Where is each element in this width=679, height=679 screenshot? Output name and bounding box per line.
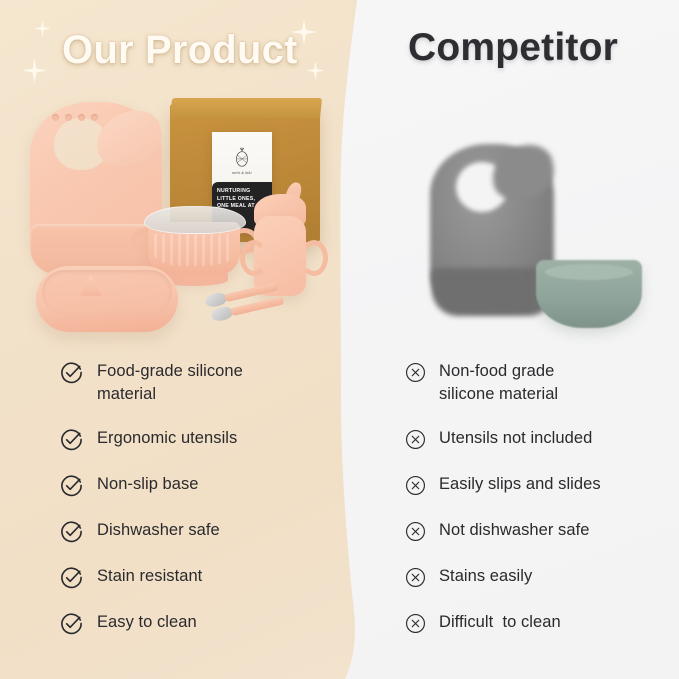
check-circle-icon [60,520,83,543]
gift-box-lid [170,98,322,118]
feature-row: Non-food grade silicone material [405,360,558,406]
bowl-clear-lid [144,206,246,234]
feature-label: Stains easily [439,565,532,588]
feature-label: Non-food grade silicone material [439,360,558,406]
comparison-infographic: Our Product Competitor mini & kiki NURTU… [0,0,679,679]
feature-label: Difficult to clean [439,611,561,634]
feature-row: Ergonomic utensils [60,427,237,451]
competitor-photo [396,92,658,340]
feature-label: Ergonomic utensils [97,427,237,450]
brand-logo: mini & kiki [220,142,264,180]
feature-row: Difficult to clean [405,611,561,634]
check-circle-icon [60,612,83,635]
feature-label: Non-slip base [97,473,199,496]
x-circle-icon [405,567,426,588]
x-circle-icon [405,475,426,496]
feature-label: Dishwasher safe [97,519,220,542]
check-circle-icon [60,361,83,384]
x-circle-icon [405,567,426,588]
feature-row: Stains easily [405,565,532,588]
x-circle-icon [405,521,426,542]
check-circle-icon [60,428,83,451]
feature-label: Easy to clean [97,611,197,634]
feature-row: Easily slips and slides [405,473,601,496]
competitor-bowl [536,260,642,328]
feature-label: Easily slips and slides [439,473,601,496]
check-circle-icon [60,474,83,497]
x-circle-icon [405,613,426,634]
x-circle-icon [405,475,426,496]
feature-label: Food-grade silicone material [97,360,243,406]
feature-label: Utensils not included [439,427,592,450]
competitor-title: Competitor [408,26,618,70]
plate-inner-well [42,270,172,314]
x-circle-icon [405,521,426,542]
our-product-photo: mini & kiki NURTURING LITTLE ONES, ONE M… [18,88,328,340]
feature-row: Not dishwasher safe [405,519,589,542]
feature-row: Stain resistant [60,565,202,589]
feature-row: Non-slip base [60,473,199,497]
brand-name: mini & kiki [232,171,251,175]
check-circle-icon [60,361,83,384]
feature-row: Easy to clean [60,611,197,635]
cup-handle-right [300,240,328,276]
x-circle-icon [405,429,426,450]
feature-row: Dishwasher safe [60,519,220,543]
cup-handle-left [240,240,268,276]
feature-row: Utensils not included [405,427,592,450]
check-circle-icon [60,566,83,589]
x-circle-icon [405,362,426,383]
x-circle-icon [405,429,426,450]
x-circle-icon [405,362,426,383]
check-circle-icon [60,428,83,451]
check-circle-icon [60,474,83,497]
x-circle-icon [405,613,426,634]
check-circle-icon [60,612,83,635]
feature-label: Stain resistant [97,565,202,588]
feature-row: Food-grade silicone material [60,360,243,406]
check-circle-icon [60,566,83,589]
bib-snaps [52,108,122,118]
check-circle-icon [60,520,83,543]
pineapple-logo-icon [231,147,253,169]
our-product-title: Our Product [62,28,298,73]
feature-label: Not dishwasher safe [439,519,589,542]
